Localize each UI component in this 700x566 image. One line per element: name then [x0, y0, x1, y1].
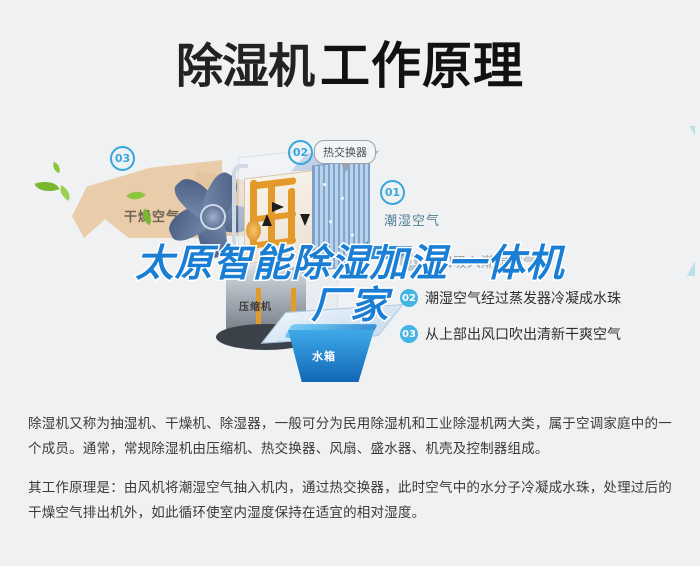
- diagram-badge-02: 02: [288, 140, 313, 165]
- diagram-badge-03: 03: [110, 146, 135, 171]
- legend-badge: 01: [400, 253, 418, 271]
- legend-badge: 02: [400, 289, 418, 307]
- legend-text: 潮湿空气经过蒸发器冷凝成水珠: [425, 288, 621, 308]
- diagram-badge-01: 01: [380, 180, 405, 205]
- legend-list: 01 风口吸入潮湿空气 02 潮湿空气经过蒸发器冷凝成水珠 03 从上部出风口吹…: [400, 252, 700, 360]
- legend-badge: 03: [400, 325, 418, 343]
- paragraph-1: 除湿机又称为抽湿机、干燥机、除湿器，一般可分为民用除湿机和工业除湿机两大类，属于…: [28, 412, 676, 462]
- compressor-label: 压缩机: [239, 298, 272, 313]
- poster-root: 除湿机工作原理 干燥空气: [0, 0, 700, 566]
- leaf-icon: [51, 162, 63, 174]
- title-part-1: 除湿机: [176, 40, 314, 95]
- legend-text: 从上部出风口吹出清新干爽空气: [425, 324, 621, 344]
- water-tank-label: 水箱: [312, 348, 336, 364]
- flow-arrow-right-icon: [272, 202, 284, 212]
- page-title: 除湿机工作原理: [0, 26, 700, 98]
- legend-text: 风口吸入潮湿空气: [425, 252, 537, 272]
- receiver-tank-icon: [246, 220, 261, 241]
- flow-arrow-down-icon: [300, 214, 310, 226]
- list-item: 03 从上部出风口吹出清新干爽空气: [400, 324, 700, 344]
- list-item: 01 风口吸入潮湿空气: [400, 252, 700, 272]
- heat-exchanger-callout: 热交换器: [314, 140, 376, 164]
- flow-arrow-up-icon: [262, 214, 272, 226]
- humid-air-label: 潮湿空气: [384, 210, 440, 229]
- paragraph-2: 其工作原理是：由风机将潮湿空气抽入机内，通过热交换器，此时空气中的水分子冷凝成水…: [28, 476, 676, 526]
- title-part-2: 工作原理: [320, 37, 524, 95]
- list-item: 02 潮湿空气经过蒸发器冷凝成水珠: [400, 288, 700, 308]
- body-copy: 除湿机又称为抽湿机、干燥机、除湿器，一般可分为民用除湿机和工业除湿机两大类，属于…: [28, 412, 676, 530]
- leaf-icon: [35, 177, 60, 196]
